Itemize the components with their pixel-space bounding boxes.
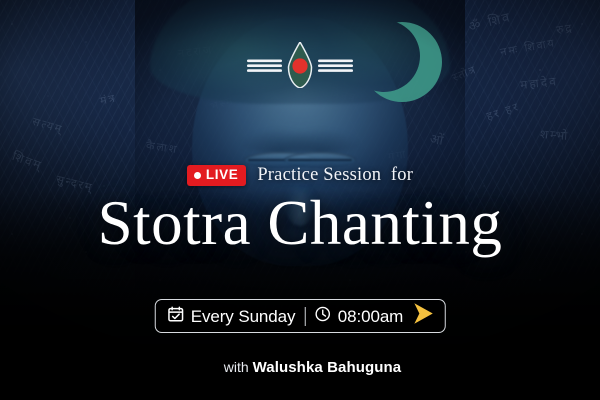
- schedule-pill[interactable]: Every Sunday 08:00am: [155, 299, 446, 333]
- poster-content: LIVE Practice Session for Stotra Chantin…: [0, 0, 600, 400]
- presenter-prefix: with: [224, 359, 253, 375]
- presenter-line: with Walushka Bahuguna: [0, 342, 600, 393]
- schedule-day-segment: Every Sunday: [168, 306, 296, 327]
- live-dot-icon: [194, 172, 201, 179]
- kicker-row: LIVE Practice Session for: [0, 165, 600, 186]
- presenter-name: Walushka Bahuguna: [253, 359, 402, 376]
- pill-divider: [304, 307, 305, 326]
- play-triangle-icon[interactable]: [412, 302, 433, 330]
- live-badge-label: LIVE: [206, 168, 238, 182]
- calendar-check-icon: [168, 306, 184, 327]
- page-title: Stotra Chanting: [0, 192, 600, 255]
- poster-canvas: ॐ शिवनमः शिवायमहादेवहर हरशम्भोस्तोत्ररुद…: [0, 0, 600, 400]
- live-badge: LIVE: [187, 165, 246, 186]
- schedule-time-segment: 08:00am: [315, 306, 403, 327]
- schedule-time-label: 08:00am: [338, 308, 403, 325]
- schedule-day-label: Every Sunday: [191, 308, 296, 325]
- kicker-text: Practice Session for: [257, 165, 413, 186]
- clock-icon: [315, 306, 331, 327]
